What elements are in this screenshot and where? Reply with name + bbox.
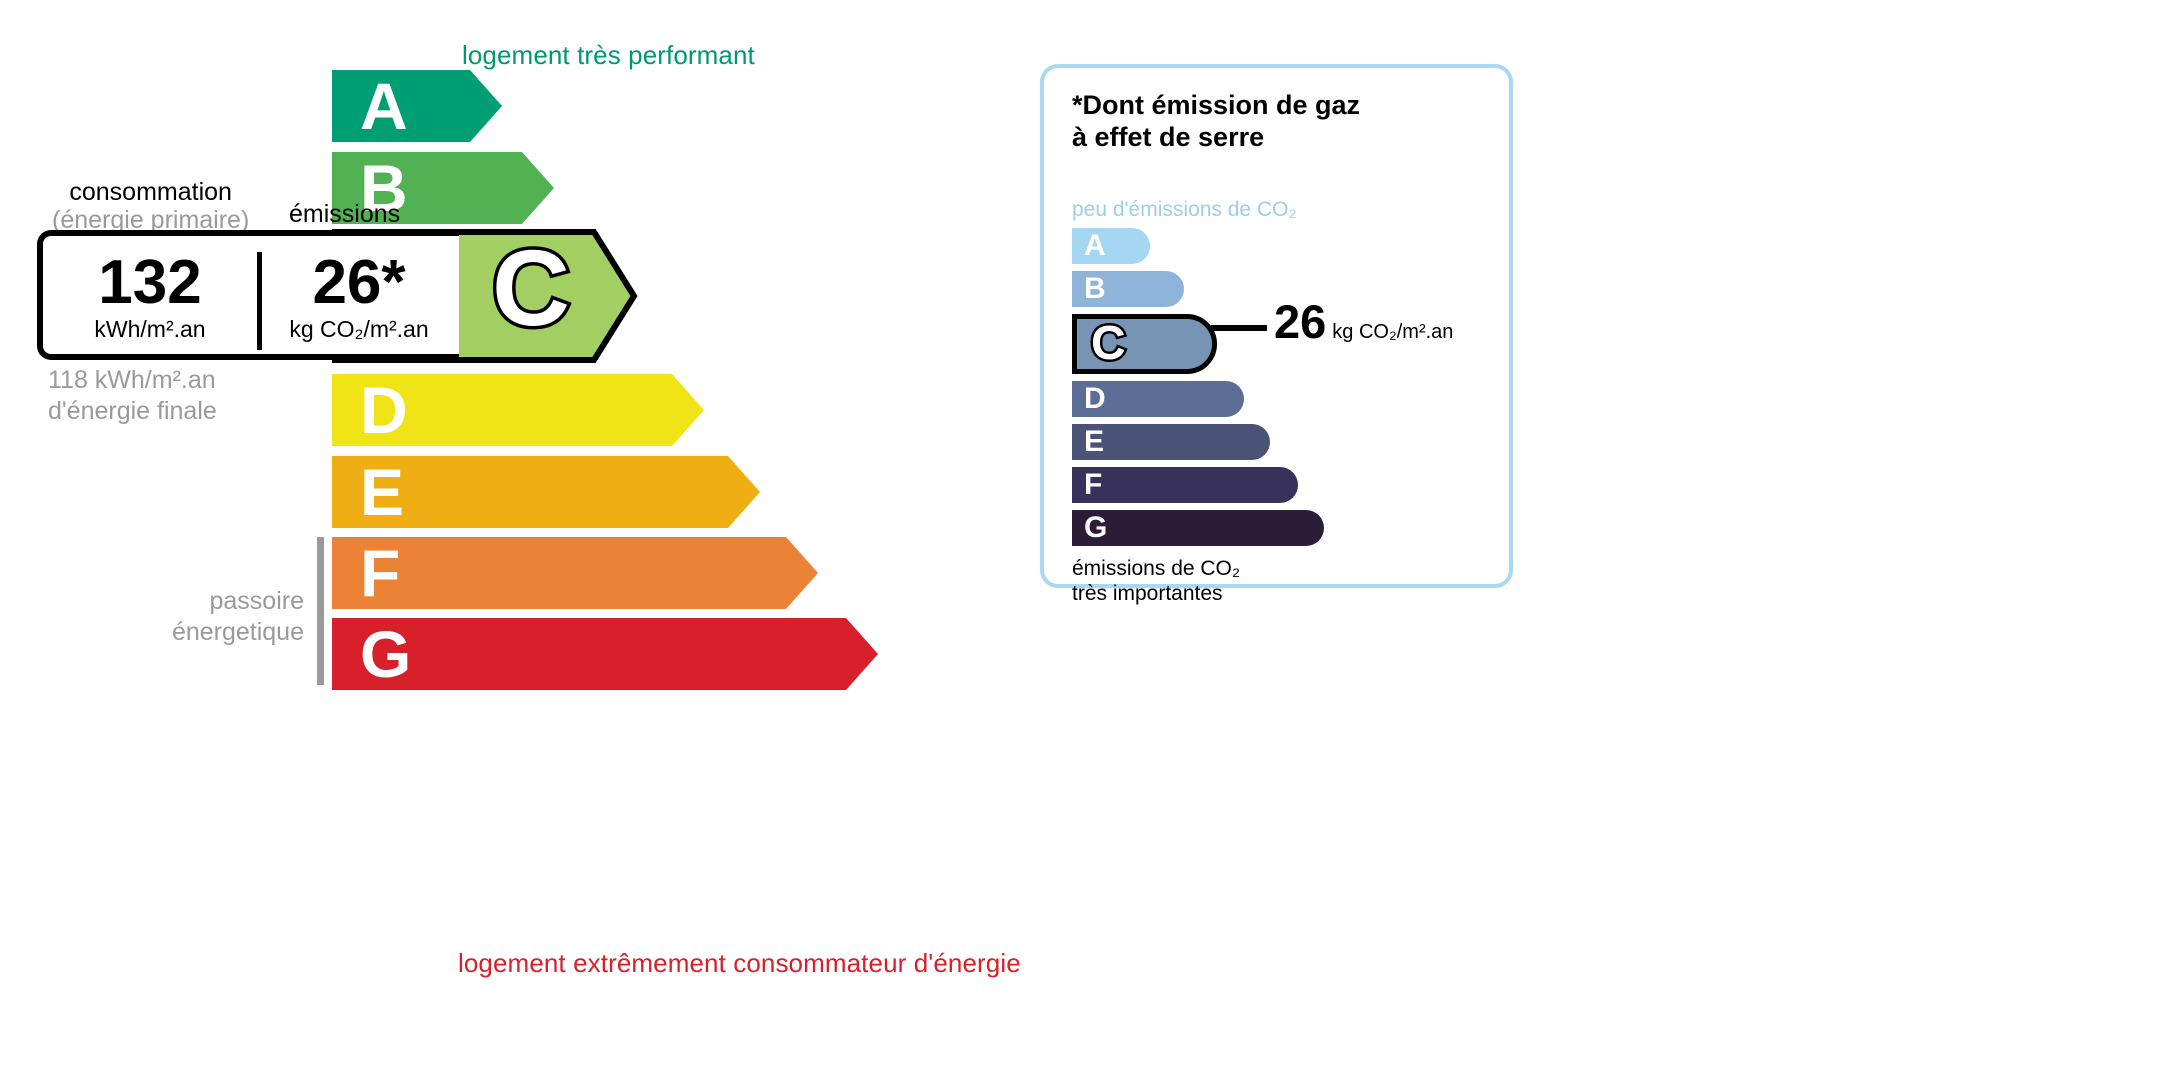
energy-value-box: 132 kWh/m².an 26* kg CO₂/m².an [37,230,459,360]
co2-bar-d: D [1072,381,1244,417]
co2-value-label: 26kg CO₂/m².an [1274,298,1453,345]
emissions-header: émissions [289,200,400,228]
co2-bar-letter-d: D [1084,384,1106,414]
final-energy-note: 118 kWh/m².an d'énergie finale [48,365,217,426]
co2-bar-g: G [1072,510,1324,546]
co2-top-caption: peu d'émissions de CO₂ [1072,198,1297,222]
energy-bar-g: G [332,618,878,690]
co2-bar-letter-b: B [1084,274,1106,304]
energy-current-class-letter: C [492,234,570,342]
emission-value-cell: 26* kg CO₂/m².an [259,236,459,354]
co2-bar-b: B [1072,271,1184,307]
co2-leader-line [1211,325,1267,331]
passoire-bracket [317,537,324,685]
co2-panel-title: *Dont émission de gaz à effet de serre [1072,90,1360,154]
co2-bottom-caption: émissions de CO₂ très importantes [1072,556,1240,606]
co2-bottom-caption-line1: émissions de CO₂ [1072,557,1240,580]
co2-bar-e: E [1072,424,1270,460]
co2-bar-letter-e: E [1084,427,1104,457]
final-energy-line2: d'énergie finale [48,397,217,425]
consumption-header: consommation (énergie primaire) [52,178,249,234]
consumption-header-line1: consommation [69,178,232,206]
co2-bar-letter-g: G [1084,513,1107,543]
passoire-label: passoire énergetique [120,586,304,647]
energy-bar-d: D [332,374,704,446]
energy-top-caption: logement très performant [462,40,755,71]
primary-energy-unit: kWh/m².an [94,318,205,341]
energy-bottom-caption: logement extrêmement consommateur d'éner… [458,948,1021,979]
energy-bar-e: E [332,456,760,528]
emission-unit: kg CO₂/m².an [289,318,428,341]
final-energy-line1: 118 kWh/m².an [48,366,216,394]
co2-bar-letter-a: A [1084,231,1106,261]
co2-title-line2: à effet de serre [1072,122,1264,152]
co2-value-unit: kg CO₂/m².an [1332,321,1453,343]
primary-energy-value: 132 [98,253,201,314]
co2-title-line1: *Dont émission de gaz [1072,90,1360,120]
co2-bottom-caption-line2: très importantes [1072,582,1223,605]
co2-bar-f: F [1072,467,1298,503]
emission-value: 26* [312,253,405,314]
primary-energy-value-cell: 132 kWh/m².an [43,236,257,354]
co2-bar-letter-f: F [1084,470,1102,500]
co2-value-number: 26 [1274,295,1326,348]
energy-bar-f: F [332,537,818,609]
co2-bar-c-current: C [1072,314,1217,374]
co2-bar-a: A [1072,228,1150,264]
co2-current-class-letter: C [1091,320,1126,368]
passoire-line2: énergetique [172,618,304,646]
energy-bar-a: A [332,70,502,142]
passoire-line1: passoire [210,587,305,615]
